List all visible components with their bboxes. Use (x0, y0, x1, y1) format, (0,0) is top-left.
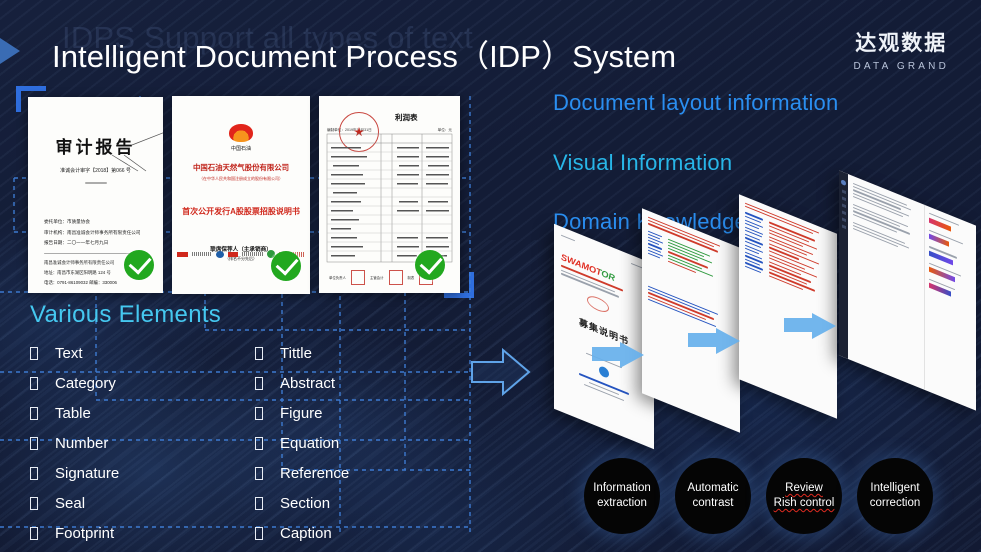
bullet-box-icon (255, 407, 263, 420)
circle-label-line2: extraction (593, 496, 651, 511)
bullet-box-icon (255, 497, 263, 510)
element-item-figure[interactable]: Figure (255, 398, 349, 428)
bullet-box-icon (30, 377, 38, 390)
element-label: Text (55, 345, 83, 362)
elements-column-right: Tittle Abstract Figure Equation Referenc… (255, 338, 349, 548)
element-label: Section (280, 495, 330, 512)
doc2-headline: 首次公开发行A股股票招股说明书 (172, 206, 310, 217)
panel4-sidebar (839, 170, 848, 359)
verified-badge-doc1 (124, 250, 154, 280)
processing-pipeline: SWAMOTOR 募集说明书 (548, 236, 981, 468)
brand-logo: 达观数据 DATA GRAND (853, 27, 949, 72)
bullet-box-icon (30, 407, 38, 420)
heading-visual-information: Visual Information (553, 150, 732, 176)
element-label: Reference (280, 465, 349, 482)
element-item-number[interactable]: Number (30, 428, 119, 458)
right-arrow-outline-icon (470, 346, 532, 403)
slide-canvas: IDPS Support all types of text Intellige… (0, 0, 981, 552)
element-label: Tittle (280, 345, 312, 362)
doc2-company: 中国石油天然气股份有限公司 (172, 162, 310, 173)
element-label: Footprint (55, 525, 114, 542)
capability-circle-information-extraction[interactable]: Information extraction (584, 458, 660, 534)
element-label: Signature (55, 465, 119, 482)
bullet-box-icon (255, 437, 263, 450)
circle-label-line2: contrast (687, 496, 738, 511)
logo-english: DATA GRAND (853, 61, 949, 72)
element-item-reference[interactable]: Reference (255, 458, 349, 488)
element-item-table[interactable]: Table (30, 398, 119, 428)
element-label: Number (55, 435, 108, 452)
bullet-box-icon (255, 467, 263, 480)
element-item-equation[interactable]: Equation (255, 428, 349, 458)
element-label: Seal (55, 495, 85, 512)
element-item-tittle[interactable]: Tittle (255, 338, 349, 368)
verified-badge-doc3 (415, 250, 445, 280)
element-item-seal[interactable]: Seal (30, 488, 119, 518)
circle-label-line1: Review (774, 481, 835, 496)
doc2-logo-label: 中国石油 (172, 145, 310, 152)
capability-circle-review-risk-control[interactable]: Review Rish control (766, 458, 842, 534)
element-label: Equation (280, 435, 339, 452)
bullet-box-icon (30, 437, 38, 450)
capability-circle-automatic-contrast[interactable]: Automatic contrast (675, 458, 751, 534)
page-title: Intelligent Document Process（IDP）System (52, 31, 676, 76)
elements-column-left: Text Category Table Number Signature Sea… (30, 338, 119, 548)
pipeline-panel-structured-text[interactable] (739, 194, 837, 419)
circle-label-line1: Information (593, 481, 651, 496)
pipeline-arrow-1 (590, 342, 646, 372)
pipeline-arrow-3 (782, 313, 838, 343)
element-label: Abstract (280, 375, 335, 392)
panel1-red-stamp (587, 293, 609, 315)
element-item-text[interactable]: Text (30, 338, 119, 368)
bullet-box-icon (30, 347, 38, 360)
pipeline-arrow-2 (686, 328, 742, 358)
various-elements-title: Various Elements (30, 301, 221, 329)
bullet-box-icon (255, 527, 263, 540)
pipeline-panel-review-result[interactable] (839, 170, 976, 410)
element-label: Figure (280, 405, 323, 422)
left-triangle-marker (0, 29, 20, 73)
circle-label-line1: Automatic (687, 481, 738, 496)
element-label: Category (55, 375, 116, 392)
element-item-category[interactable]: Category (30, 368, 119, 398)
element-label: Caption (280, 525, 332, 542)
pipeline-panel-source-document[interactable]: SWAMOTOR 募集说明书 (554, 224, 654, 449)
pipeline-panel-parsed-text[interactable] (642, 208, 740, 433)
bullet-box-icon (30, 527, 38, 540)
capability-circle-intelligent-correction[interactable]: Intelligent correction (857, 458, 933, 534)
heading-document-layout-information: Document layout information (553, 90, 838, 116)
element-item-footprint[interactable]: Footprint (30, 518, 119, 548)
element-item-signature[interactable]: Signature (30, 458, 119, 488)
logo-chinese: 达观数据 (853, 27, 949, 57)
bullet-box-icon (255, 377, 263, 390)
panel4-highlight-chip (929, 283, 951, 297)
circle-label-line2: Rish control (774, 496, 835, 511)
element-item-section[interactable]: Section (255, 488, 349, 518)
bullet-box-icon (30, 497, 38, 510)
doc2-logo-icon (229, 124, 253, 142)
circle-label-line2: correction (870, 496, 921, 511)
doc2-company-sub: （在中华人民共和国注册成立的股份有限公司） (172, 176, 310, 182)
element-item-abstract[interactable]: Abstract (255, 368, 349, 398)
bullet-box-icon (30, 467, 38, 480)
element-label: Table (55, 405, 91, 422)
circle-label-line1: Intelligent (870, 481, 921, 496)
verified-badge-doc2 (271, 251, 301, 281)
bullet-box-icon (255, 347, 263, 360)
element-item-caption[interactable]: Caption (255, 518, 349, 548)
